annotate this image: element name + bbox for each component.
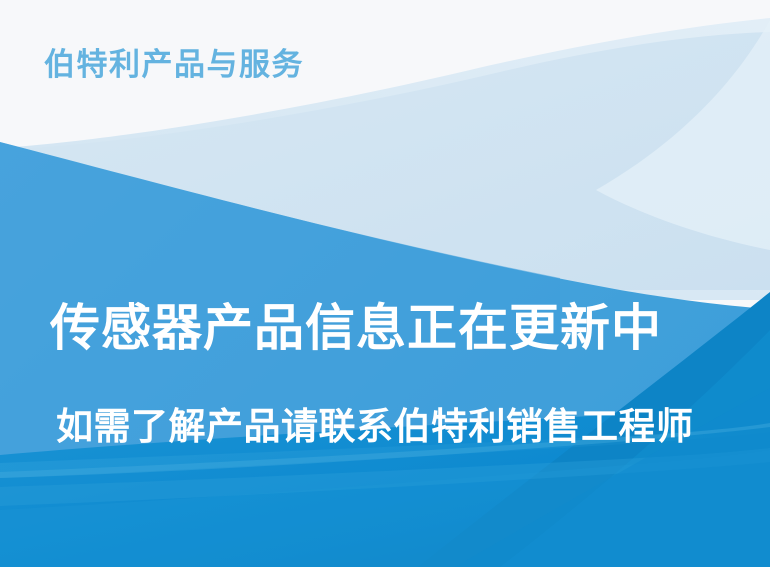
banner-text-layer: 伯特利产品与服务 传感器产品信息正在更新中 如需了解产品请联系伯特利销售工程师 xyxy=(0,0,770,567)
headline: 传感器产品信息正在更新中 xyxy=(50,300,662,356)
promo-banner: 伯特利产品与服务 传感器产品信息正在更新中 如需了解产品请联系伯特利销售工程师 xyxy=(0,0,770,567)
subheadline: 如需了解产品请联系伯特利销售工程师 xyxy=(56,406,694,447)
brand-title: 伯特利产品与服务 xyxy=(44,47,304,83)
